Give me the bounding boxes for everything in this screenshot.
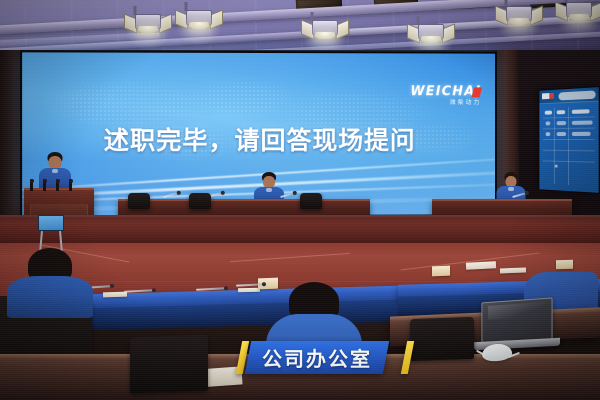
podium-microphone: [69, 179, 72, 191]
conference-hall-photo: WEICHAI 潍柴动力 述职完毕，请回答现场提问: [0, 0, 600, 400]
monitor-on-stand: [38, 215, 64, 231]
weichai-logo-wordmark: WEICHAI: [410, 85, 481, 98]
document-paper: [500, 268, 526, 274]
side-display-screen: [538, 86, 599, 194]
side-screen-table-row: [543, 117, 595, 129]
stage-chair: [300, 193, 322, 209]
podium-microphone: [43, 179, 46, 191]
name-card: [432, 266, 450, 277]
stage-chair: [128, 193, 150, 209]
side-screen-logo-icon: [542, 93, 554, 99]
side-screen-title-bar: [559, 90, 596, 100]
side-screen-table: [543, 106, 595, 186]
podium-microphone: [56, 179, 59, 191]
weichai-logo: WEICHAI 潍柴动力: [410, 85, 481, 106]
document-paper: [103, 292, 127, 298]
side-screen-header: [539, 87, 598, 104]
podium-microphone-group: [30, 178, 72, 191]
side-screen-table-row: [543, 140, 595, 151]
side-screen-table-row: [543, 161, 595, 174]
side-screen-table-row: [543, 129, 595, 140]
caption-banner: 公司办公室: [245, 341, 389, 374]
podium-microphone: [30, 179, 33, 191]
audience-attendee-left: [6, 248, 94, 310]
audience-chair: [130, 335, 208, 394]
stage-chair: [189, 193, 211, 209]
weichai-logo-subtitle: 潍柴动力: [410, 100, 481, 106]
slide-headline: 述职完毕，请回答现场提问: [22, 121, 495, 157]
caption-label: 公司办公室: [262, 343, 372, 372]
laptop-screen-glare: [488, 302, 546, 320]
audience-chair: [410, 317, 474, 361]
document-paper: [238, 288, 260, 292]
